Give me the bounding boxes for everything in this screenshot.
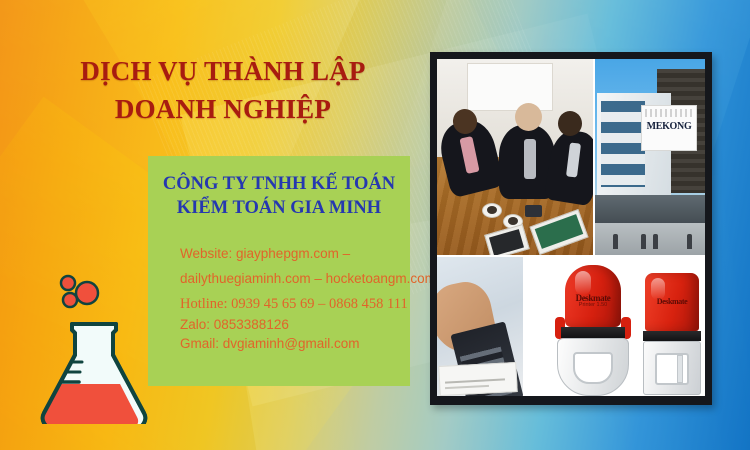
flask-illustration — [36, 272, 152, 424]
zalo-text[interactable]: Zalo: 0853388126 — [180, 315, 410, 334]
website-line-1[interactable]: Website: giayphepgm.com – — [180, 244, 410, 263]
round-stamp-model: Printer 1.50 — [565, 302, 621, 308]
pedestrian-1 — [613, 234, 618, 249]
round-stamp-opening — [573, 352, 613, 384]
person-head-3 — [558, 111, 582, 136]
collage-inner: MEKONG Deskmate Printer 1.50 — [437, 59, 705, 396]
collage-divider-horizontal — [437, 255, 705, 257]
building-sign-text: MEKONG — [641, 121, 697, 132]
round-stamp-highlight — [575, 271, 591, 295]
square-stamp-brand: Deskmate — [645, 297, 699, 306]
coffee-cup-1-inner — [487, 206, 497, 214]
signboard-header-stripe — [645, 109, 693, 117]
banner-headline: DỊCH VỤ THÀNH LẬP DOANH NGHIỆP — [28, 52, 418, 128]
pedestrian-4 — [687, 234, 692, 249]
company-name: CÔNG TY TNHH KẾ TOÁN KIỂM TOÁN GIA MINH — [148, 172, 410, 220]
photo-mekong-building: MEKONG — [595, 59, 705, 255]
erlenmeyer-flask-icon — [36, 272, 152, 424]
collage-divider-vertical — [593, 59, 595, 255]
building-ground-floor — [595, 195, 705, 225]
photo-collage: MEKONG Deskmate Printer 1.50 — [430, 52, 712, 405]
building-windows — [601, 101, 645, 187]
hotline-text[interactable]: Hotline: 0939 45 65 69 – 0868 458 111 — [180, 294, 410, 315]
square-stamp-inner-bar — [677, 355, 683, 383]
meeting-whiteboard — [467, 63, 553, 111]
promotional-banner: DỊCH VỤ THÀNH LẬP DOANH NGHIỆP CÔNG TY T… — [0, 0, 750, 450]
headline-line-2: DOANH NGHIỆP — [28, 90, 418, 128]
coffee-cup-2-inner — [508, 217, 518, 225]
pedestrian-2 — [641, 234, 646, 249]
company-info-card: CÔNG TY TNHH KẾ TOÁN KIỂM TOÁN GIA MINH … — [148, 156, 410, 386]
pedestrian-3 — [653, 234, 658, 249]
mobile-phone — [525, 205, 542, 217]
person-head-2 — [515, 103, 542, 131]
headline-line-1: DỊCH VỤ THÀNH LẬP — [28, 52, 418, 90]
square-stamp-opening — [655, 353, 689, 385]
square-stamp-band — [643, 331, 701, 341]
person-tie-2 — [524, 139, 536, 179]
gmail-text[interactable]: Gmail: dvgiaminh@gmail.com — [180, 334, 410, 353]
company-name-line-2: KIỂM TOÁN GIA MINH — [148, 196, 410, 220]
company-name-line-1: CÔNG TY TNHH KẾ TOÁN — [148, 172, 410, 196]
contact-details: Website: giayphepgm.com – dailythuegiami… — [148, 244, 410, 353]
round-stamp-band — [561, 327, 625, 338]
website-line-2[interactable]: dailythuegiaminh.com – hocketoangm.com — [180, 269, 410, 288]
photo-business-meeting — [437, 59, 593, 255]
